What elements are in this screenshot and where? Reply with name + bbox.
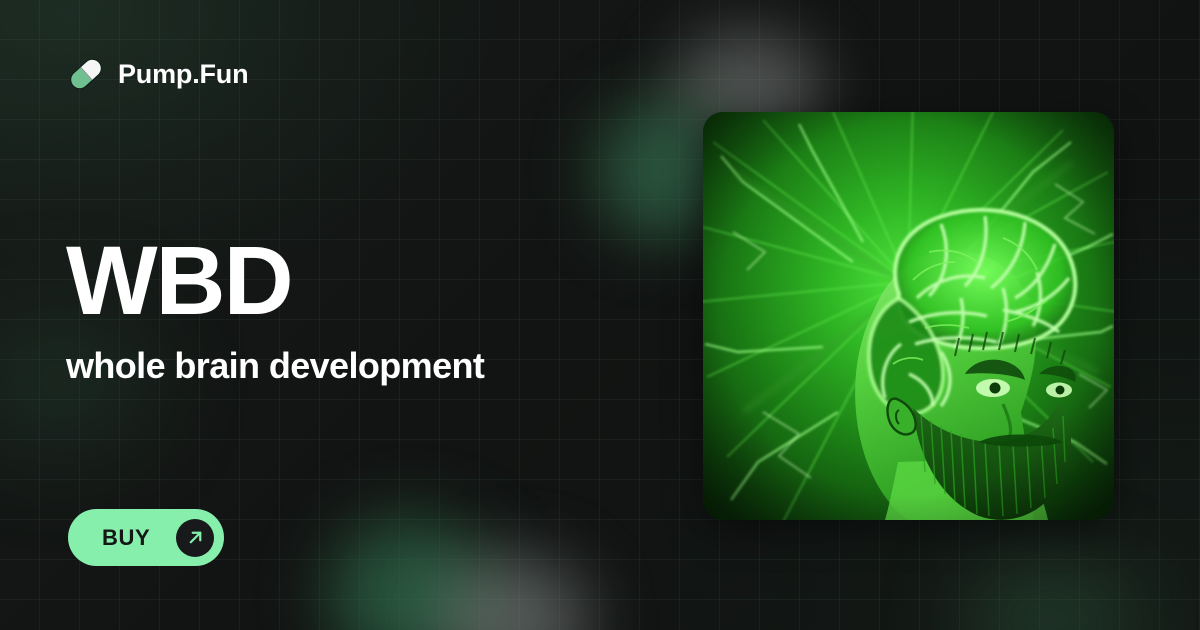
buy-button[interactable]: BUY <box>68 509 224 566</box>
brand-name: Pump.Fun <box>118 61 248 88</box>
token-artwork[interactable] <box>703 112 1114 520</box>
og-card: Pump.Fun WBD whole brain development BUY <box>0 0 1200 630</box>
token-description: whole brain development <box>66 345 484 386</box>
buy-button-label: BUY <box>102 527 150 549</box>
hero-text-block: WBD whole brain development <box>66 232 484 386</box>
token-ticker: WBD <box>66 232 484 329</box>
pill-capsule-icon <box>68 56 104 92</box>
brand-header[interactable]: Pump.Fun <box>68 56 248 92</box>
arrow-up-right-icon <box>176 519 214 557</box>
